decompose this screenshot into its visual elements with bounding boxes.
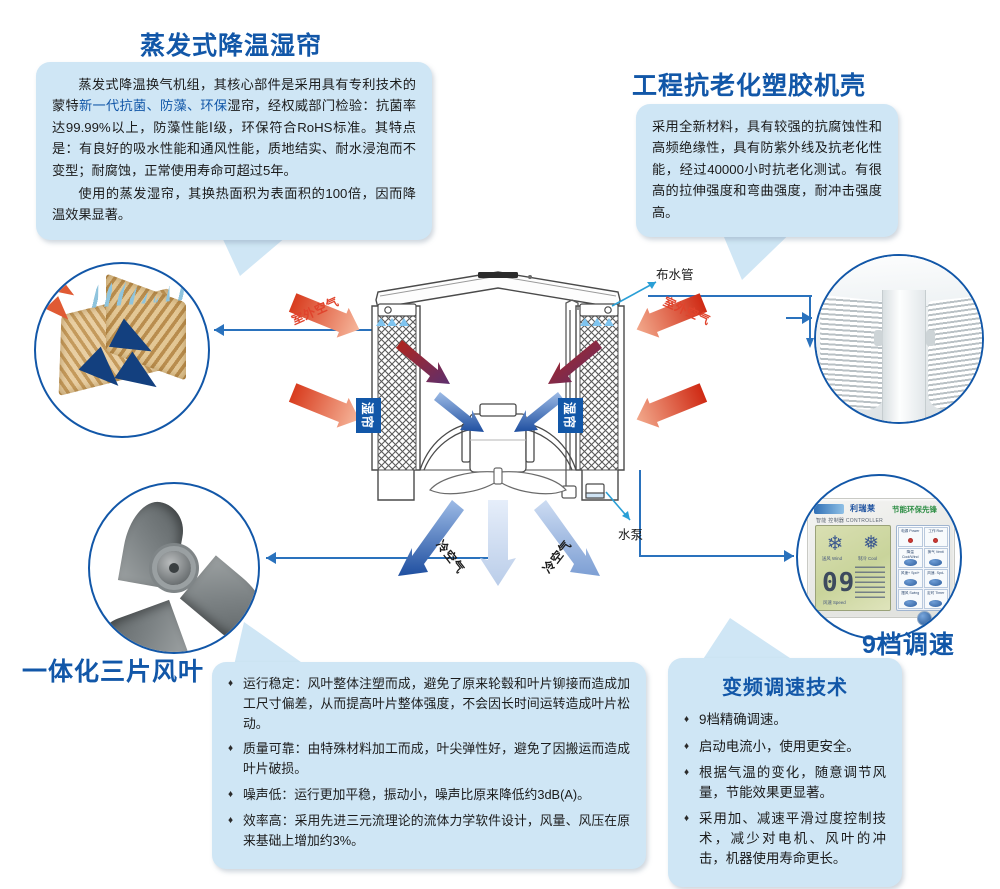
machine-fan-blades xyxy=(430,468,566,494)
controller-lcd-screen: ❄ ❅ 送风 Wind 制冷 Cool 09 风速 Speed xyxy=(815,525,891,611)
casing-corner-column xyxy=(882,290,926,424)
run-button[interactable]: 工作 Run xyxy=(924,527,949,547)
controller-photo: 利瑞莱 节能环保先锋 智能 控制器 CONTROLLER ❄ ❅ 送风 Wind… xyxy=(796,474,962,640)
cooling-pad-paragraph-2: 使用的蒸发湿帘，其换热面积为表面积的100倍，因而降温效果显著。 xyxy=(52,183,416,226)
cooling-pad-paragraph-1: 蒸发式降温换气机组，其核心部件是采用具有专利技术的蒙特新一代抗菌、防藻、环保湿帘… xyxy=(52,74,416,181)
list-item: 质量可靠：由特殊材料加工而成，叶尖弹性好，避免了因搬运而造成叶片破损。 xyxy=(228,739,630,779)
swing-button[interactable]: 摆风 Swing xyxy=(898,589,923,609)
speed-up-label: 风速+ Spd+ xyxy=(899,571,922,576)
callout-speed-control: 变频调速技术 9档精确调速。 启动电流小，使用更安全。 根据气温的变化，随意调节… xyxy=(668,658,902,887)
cool-mode-key-icon xyxy=(904,559,917,566)
ventilate-label: 换气 Venti xyxy=(925,550,948,555)
label-water-pump: 水泵 xyxy=(618,524,643,543)
cool-mode-label: 降温 Cool/Wind xyxy=(899,550,922,559)
title-fan-blade: 一体化三片风叶 xyxy=(22,652,204,688)
label-water-pipe: 布水管 xyxy=(656,264,694,283)
cooling-pad-photo xyxy=(34,262,210,438)
lcd-fan-label: 送风 Wind xyxy=(822,556,842,562)
speed-up-button[interactable]: 风速+ Spd+ xyxy=(898,569,923,589)
fan-blade-3 xyxy=(90,600,188,654)
run-button-label: 工作 Run xyxy=(925,529,948,534)
controller-brand-row: 利瑞莱 节能环保先锋 xyxy=(814,503,948,517)
callout-fan-blade: 运行稳定：风叶整体注塑而成，避免了原来轮毂和叶片铆接而造成加工尺寸偏差，从而提高… xyxy=(212,662,646,869)
swing-label: 摆风 Swing xyxy=(899,591,922,596)
casing-handle-right xyxy=(926,330,935,346)
fan-blade-bullet-list: 运行稳定：风叶整体注塑而成，避免了原来轮毂和叶片铆接而造成加工尺寸偏差，从而提高… xyxy=(228,674,630,851)
timer-label: 定时 Timer xyxy=(925,591,948,596)
brand-slogan: 节能环保先锋 xyxy=(892,504,937,515)
brand-name: 利瑞莱 xyxy=(850,503,876,514)
list-item: 运行稳定：风叶整体注塑而成，避免了原来轮毂和叶片铆接而造成加工尺寸偏差，从而提高… xyxy=(228,674,630,733)
list-item: 9档精确调速。 xyxy=(684,710,886,730)
speed-down-label: 风速- Spd- xyxy=(925,571,948,576)
cool-mode-button[interactable]: 降温 Cool/Wind xyxy=(898,548,923,568)
speed-control-bullet-list: 9档精确调速。 启动电流小，使用更安全。 根据气温的变化，随意调节风量，节能效果… xyxy=(684,710,886,869)
power-button[interactable]: 电源 Power xyxy=(898,527,923,547)
speed-down-key-icon xyxy=(929,579,942,586)
timer-key-icon xyxy=(929,600,942,607)
cooling-pad-right xyxy=(580,312,618,470)
callout-cooling-pad: 蒸发式降温换气机组，其核心部件是采用具有专利技术的蒙特新一代抗菌、防藻、环保湿帘… xyxy=(36,62,432,240)
water-distribution-box xyxy=(378,304,618,316)
snowflake-icon: ❅ xyxy=(860,533,882,555)
timer-button[interactable]: 定时 Timer xyxy=(924,589,949,609)
ventilate-button[interactable]: 换气 Venti xyxy=(924,548,949,568)
label-cooling-pad-right: 湿帘 xyxy=(558,398,583,433)
controller-keypad[interactable]: 电源 Power 工作 Run 降温 Cool/Wind 换气 Venti xyxy=(896,525,950,611)
water-pump xyxy=(586,484,604,498)
fan-hub xyxy=(157,551,191,585)
lcd-speed-value: 09 xyxy=(822,568,855,598)
lcd-level-bars xyxy=(855,564,885,598)
label-cooling-pad-left: 湿帘 xyxy=(356,398,381,433)
plastic-casing-photo xyxy=(814,254,984,424)
power-button-label: 电源 Power xyxy=(899,529,922,534)
lcd-cool-label: 制冷 Cool xyxy=(858,556,877,562)
title-cooling-pad: 蒸发式降温湿帘 xyxy=(140,26,322,62)
product-infographic: 室外空气 室外空气 湿帘 湿帘 布水管 水泵 冷空气 冷空气 xyxy=(0,0,1000,889)
casing-louver-left xyxy=(820,295,884,412)
title-plastic-case: 工程抗老化塑胶机壳 xyxy=(632,66,866,102)
list-item: 效率高：采用先进三元流理论的流体力学软件设计，风量、风压在原来基础上增加约3%。 xyxy=(228,811,630,851)
speed-up-key-icon xyxy=(904,579,917,586)
list-item: 启动电流小，使用更安全。 xyxy=(684,737,886,757)
cooling-pad-left xyxy=(378,312,416,470)
list-item: 噪声低：运行更加平稳，振动小，噪声比原来降低约3dB(A)。 xyxy=(228,785,630,805)
callout-plastic-case: 采用全新材料，具有较强的抗腐蚀性和高频绝缘性，具有防紫外线及抗老化性能，经过40… xyxy=(636,104,898,237)
main-knob[interactable] xyxy=(917,611,932,626)
power-led-icon xyxy=(908,538,913,543)
controller-model-text: 智能 控制器 CONTROLLER xyxy=(816,517,883,524)
brand-logo-icon xyxy=(814,504,844,514)
lcd-speed-label: 风速 Speed xyxy=(823,600,846,606)
casing-louver-right xyxy=(928,295,984,412)
run-led-icon xyxy=(933,538,938,543)
swing-key-icon xyxy=(904,600,917,607)
list-item: 采用加、减速平滑过度控制技术，减少对电机、风叶的冲击，机器使用寿命更长。 xyxy=(684,809,886,869)
ventilate-key-icon xyxy=(929,559,942,566)
list-item: 根据气温的变化，随意调节风量，节能效果更显著。 xyxy=(684,763,886,803)
fan-icon: ❄ xyxy=(824,533,846,555)
plastic-case-paragraph: 采用全新材料，具有较强的抗腐蚀性和高频绝缘性，具有防紫外线及抗老化性能，经过40… xyxy=(652,116,882,223)
casing-handle-left xyxy=(874,330,883,346)
speed-control-bubble-title: 变频调速技术 xyxy=(684,672,886,704)
title-speed-control: 9档调速 xyxy=(862,625,955,661)
airflow-through-pad xyxy=(396,340,602,384)
case-circle-pointer xyxy=(786,312,812,324)
speed-down-button[interactable]: 风速- Spd- xyxy=(924,569,949,589)
controller-body: 利瑞莱 节能环保先锋 智能 控制器 CONTROLLER ❄ ❅ 送风 Wind… xyxy=(807,498,955,618)
